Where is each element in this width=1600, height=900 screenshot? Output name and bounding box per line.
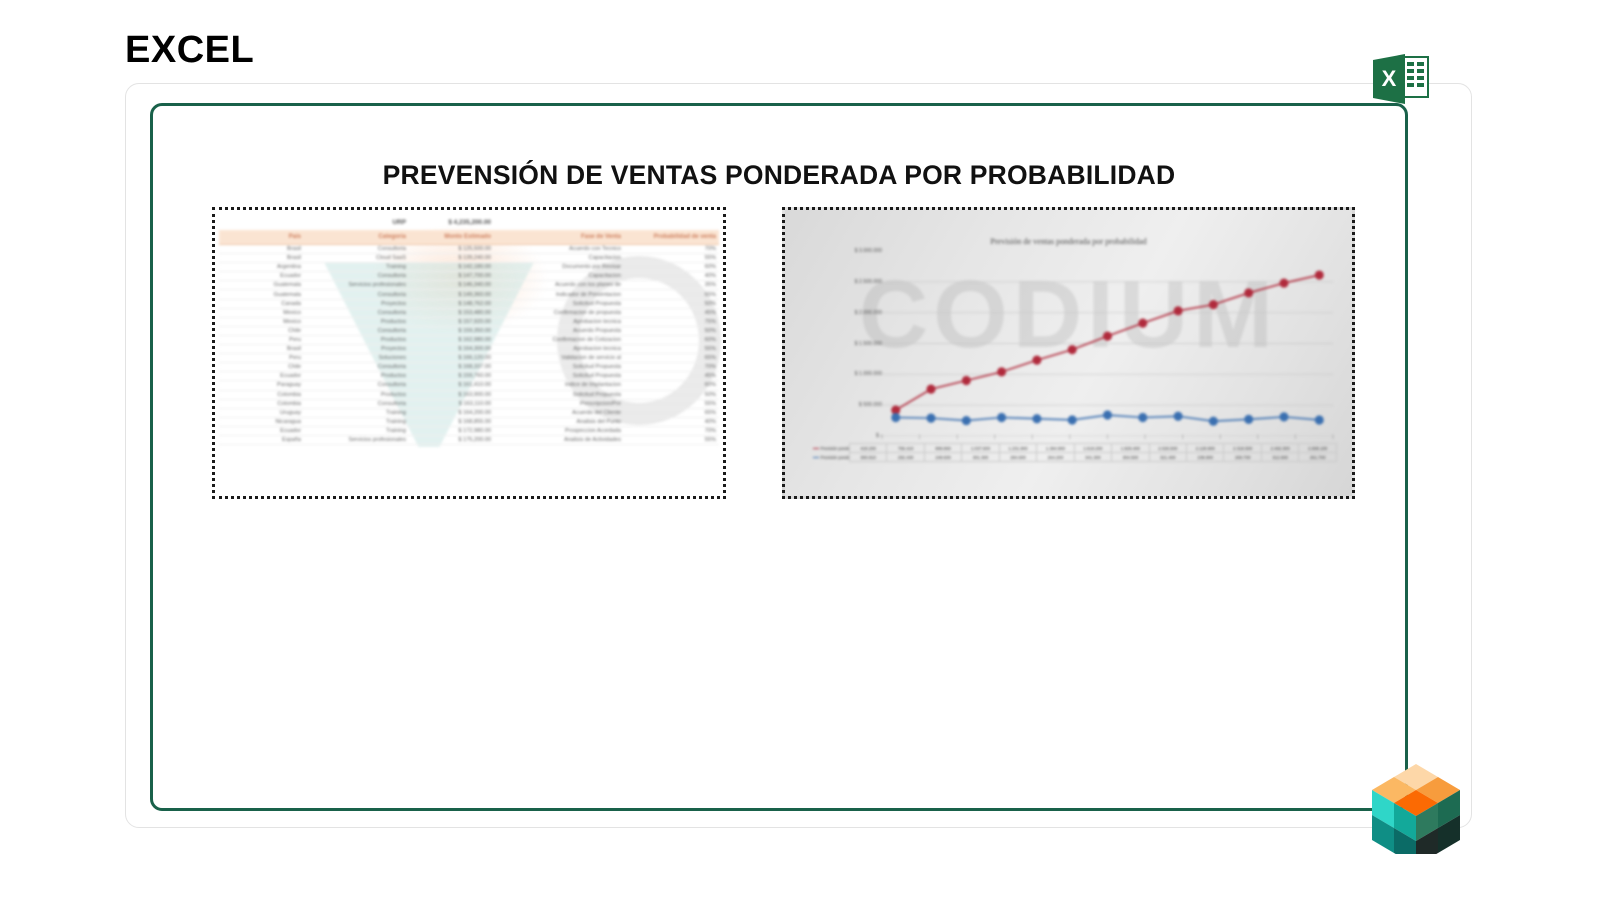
table-cell: 65% — [624, 290, 719, 299]
table-cell: $ 149,360.00 — [409, 290, 494, 299]
table-cell: Ecuador — [219, 272, 304, 281]
table-cell: Analisis de Actividades — [494, 435, 624, 444]
table-cell: Colombia — [219, 390, 304, 399]
chart-data-point — [1244, 415, 1253, 424]
table-cell: 35% — [624, 281, 719, 290]
table-cell: 50% — [624, 390, 719, 399]
chart-series-line — [896, 275, 1320, 410]
sales-table: URP$ 4,235,200.00PaisCategoriaMonto Esti… — [219, 214, 719, 445]
chart-data-point — [1032, 414, 1041, 423]
table-cell: Aprobacion tecnica — [494, 345, 624, 354]
table-cell: 60% — [624, 381, 719, 390]
table-cell: Uruguay — [219, 408, 304, 417]
table-row[interactable]: ParaguayConsultoria$ 161,410.00Indice de… — [219, 381, 719, 390]
table-cell: Servicios profesionales — [304, 435, 409, 444]
table-cell: Validacion de servicio al — [494, 354, 624, 363]
table-cell: Capacitacion — [494, 272, 624, 281]
table-cell: $ 157,920.00 — [409, 317, 494, 326]
table-cell: $ 159,350.00 — [409, 326, 494, 335]
table-cell: Productos — [304, 317, 409, 326]
y-axis-tick-label: $ 1.000.000 — [855, 371, 882, 377]
chart-table-cell: 1.829.400 — [1112, 444, 1149, 453]
y-axis-tick-label: $ 1.500.000 — [855, 341, 882, 347]
table-cell: Acuerdo con los planes de — [494, 281, 624, 290]
table-cell: 55% — [624, 345, 719, 354]
table-cell: Peru — [219, 354, 304, 363]
table-cell: España — [219, 435, 304, 444]
table-row[interactable]: MexicoProductos$ 157,920.00Aprobacion te… — [219, 317, 719, 326]
table-cell: Mexico — [219, 317, 304, 326]
table-cell: Solicitud Propuesta — [494, 372, 624, 381]
table-row[interactable]: BrasilConsultoria$ 125,500.00Acuerdo con… — [219, 245, 719, 254]
chart-data-point — [1209, 300, 1218, 309]
table-cell: Consultoria — [304, 399, 409, 408]
column-header[interactable]: Pais — [219, 230, 304, 245]
chart-table-cell: 2.608.100 — [1299, 444, 1337, 453]
table-row[interactable]: PeruProductos$ 162,980.00Confirmacion de… — [219, 335, 719, 344]
table-cell: Chile — [219, 326, 304, 335]
table-cell: Solicitud Propuesta — [494, 363, 624, 372]
table-cell: $ 163,900.00 — [409, 390, 494, 399]
table-header-row: PaisCategoriaMonto EstimadoFase de Venta… — [219, 230, 719, 245]
chart-table-cell: 756.410 — [887, 444, 924, 453]
column-header[interactable]: Monto Estimado — [409, 230, 494, 245]
table-cell: Consultoria — [304, 290, 409, 299]
chart-table-cell: 2.026.500 — [1149, 444, 1186, 453]
chart-data-point — [927, 385, 936, 394]
table-cell: 60% — [624, 335, 719, 344]
table-cell: Consultoria — [304, 326, 409, 335]
chart-data-point — [1103, 332, 1112, 341]
table-cell: Guatemala — [219, 290, 304, 299]
table-cell: $ 142,180.00 — [409, 263, 494, 272]
table-cell: $ 168,337.00 — [409, 363, 494, 372]
table-cell: Consultoria — [304, 272, 409, 281]
table-cell: $ 153,480.00 — [409, 308, 494, 317]
table-cell: 65% — [624, 408, 719, 417]
chart-table-cell: 2.318.500 — [1224, 444, 1261, 453]
column-header[interactable]: Fase de Venta — [494, 230, 624, 245]
table-row[interactable]: EspañaServicios profesionales$ 175,200.0… — [219, 435, 719, 444]
table-cell: 65% — [624, 354, 719, 363]
x-axis-tick: | — [1182, 434, 1183, 439]
chart-data-point — [927, 414, 936, 423]
table-cell: Ecuador — [219, 426, 304, 435]
chart-table-cell: 301.300 — [962, 453, 999, 462]
table-row[interactable]: ColombiaConsultoria$ 163,110.00Prescripc… — [219, 399, 719, 408]
table-cell: Productos — [304, 390, 409, 399]
chart-table-cell: 2.128.900 — [1187, 444, 1224, 453]
table-cell: 55% — [624, 254, 719, 263]
table-row[interactable]: GuatemalaServicios profesionales$ 146,34… — [219, 281, 719, 290]
table-cell: Guatemala — [219, 281, 304, 290]
table-cell: 50% — [624, 326, 719, 335]
summary-label: URP — [304, 214, 409, 230]
chart-data-point — [962, 376, 971, 385]
chart-table-cell: 269.700 — [1224, 453, 1261, 462]
x-axis-tick: | — [1220, 434, 1221, 439]
chart-series-label: Previsión ponderada acumulada — [812, 444, 849, 453]
x-axis-tick: | — [994, 434, 995, 439]
table-cell: Training — [304, 408, 409, 417]
x-axis-tick: | — [1295, 434, 1296, 439]
excel-file-icon[interactable]: X — [1369, 52, 1431, 108]
chart-title: Previsión de ventas ponderada por probab… — [790, 237, 1347, 246]
table-cell — [219, 214, 304, 230]
table-row[interactable]: CanadaProyectos$ 148,762.00Solicitud Pro… — [219, 299, 719, 308]
table-row[interactable]: UruguayTraining$ 164,200.00Acuerdo del C… — [219, 408, 719, 417]
table-cell: Capacitacion — [494, 254, 624, 263]
x-axis-tick: | — [1069, 434, 1070, 439]
table-cell: Consultoria — [304, 363, 409, 372]
chart-table-cell: 2.492.300 — [1261, 444, 1298, 453]
chart-table-row: Previsión ponderada acumulada418.200756.… — [812, 444, 1337, 453]
table-cell: Solicitud Propuesta — [494, 390, 624, 399]
x-axis-tick: | — [957, 434, 958, 439]
table-cell: Acuerdo Propuesta — [494, 326, 624, 335]
table-cell: Argentina — [219, 263, 304, 272]
y-axis-tick-label: $ 3.000.000 — [855, 248, 882, 254]
table-cell: 50% — [624, 299, 719, 308]
chart-table-cell: 899.860 — [924, 444, 961, 453]
y-axis-tick-label: $ 2.500.000 — [855, 279, 882, 285]
table-cell: Chile — [219, 363, 304, 372]
table-cell: Proyectos — [304, 345, 409, 354]
chart-screenshot-panel[interactable]: CODIUM Previsión de ventas ponderada por… — [782, 207, 1355, 499]
table-cell — [624, 214, 719, 230]
chart-table-cell: 292.430 — [887, 453, 924, 462]
table-cell: 70% — [624, 363, 719, 372]
table-row[interactable]: MexicoConsultoria$ 153,480.00Confirmacio… — [219, 308, 719, 317]
table-cell: Confirmacion de propuesta — [494, 308, 624, 317]
chart-content: CODIUM Previsión de ventas ponderada por… — [790, 215, 1347, 491]
chart-data-point — [1032, 356, 1041, 365]
table-cell: $ 163,110.00 — [409, 399, 494, 408]
chart-table-cell: 248.600 — [924, 453, 961, 462]
table-cell: $ 168,855.00 — [409, 417, 494, 426]
x-axis-tick: | — [1257, 434, 1258, 439]
chart-x-axis-ticks: ||||||||||||| — [882, 434, 1333, 442]
x-axis-tick: | — [1032, 434, 1033, 439]
chart-table-cell: 238.900 — [1187, 453, 1224, 462]
table-cell: Training — [304, 417, 409, 426]
column-header[interactable]: Probabilidad de venta — [624, 230, 719, 245]
chart-table-cell: 284.600 — [999, 453, 1036, 462]
table-cell: Mexico — [219, 308, 304, 317]
cube-logo-svg — [1370, 758, 1462, 854]
table-cell: Nicaragua — [219, 417, 304, 426]
chart-table-cell: 312.600 — [1261, 453, 1298, 462]
table-cell: 55% — [624, 435, 719, 444]
chart-table-cell: 1.037.600 — [962, 444, 999, 453]
chart-data-point — [1068, 345, 1077, 354]
table-cell: Prescripcion/Pre — [494, 399, 624, 408]
table-cell: Ecuador — [219, 372, 304, 381]
x-axis-tick: | — [1107, 434, 1108, 439]
table-cell: Training — [304, 263, 409, 272]
spreadsheet-content: URP$ 4,235,200.00PaisCategoriaMonto Esti… — [219, 214, 719, 492]
table-cell: Proyectos — [304, 299, 409, 308]
table-cell: Analisis del Punto — [494, 417, 624, 426]
table-cell: Productos — [304, 372, 409, 381]
table-cell: Brasil — [219, 254, 304, 263]
chart-data-point — [1174, 306, 1183, 315]
table-row[interactable]: EcuadorConsultoria$ 147,700.00Capacitaci… — [219, 272, 719, 281]
table-row[interactable]: ChileConsultoria$ 159,350.00Acuerdo Prop… — [219, 326, 719, 335]
table-row[interactable]: ColombiaProductos$ 163,900.00Solicitud P… — [219, 390, 719, 399]
isometric-cube-logo — [1370, 758, 1462, 854]
table-cell: Consultoria — [304, 381, 409, 390]
table-cell: $ 164,300.00 — [409, 345, 494, 354]
table-cell: Cloud SaaS — [304, 254, 409, 263]
table-cell: Confirmacion de Cotizacion — [494, 335, 624, 344]
chart-data-point — [1244, 288, 1253, 297]
table-row[interactable]: BrasilCloud SaaS$ 139,240.00Capacitacion… — [219, 254, 719, 263]
table-row[interactable]: EcuadorTraining$ 172,980.00Prospeccion A… — [219, 426, 719, 435]
table-cell: $ 162,980.00 — [409, 335, 494, 344]
excel-icon-svg: X — [1369, 52, 1431, 108]
table-cell: 60% — [624, 263, 719, 272]
table-cell: 40% — [624, 417, 719, 426]
x-axis-tick: | — [1332, 434, 1333, 439]
chart-data-point — [1279, 412, 1288, 421]
chart-data-point — [1315, 415, 1324, 424]
table-cell: Acuerdo del Cliente — [494, 408, 624, 417]
chart-y-axis: $ 3.000.000$ 2.500.000$ 2.000.000$ 1.500… — [812, 251, 884, 436]
table-cell: $ 139,240.00 — [409, 254, 494, 263]
table-row[interactable]: GuatemalaConsultoria$ 149,360.00Indicado… — [219, 290, 719, 299]
table-row[interactable]: ChileConsultoria$ 168,337.00Solicitud Pr… — [219, 363, 719, 372]
table-cell: Brasil — [219, 245, 304, 254]
table-summary-row: URP$ 4,235,200.00 — [219, 214, 719, 230]
table-cell: Aprobacion tecnica — [494, 317, 624, 326]
chart-data-point — [997, 367, 1006, 376]
table-cell: $ 147,700.00 — [409, 272, 494, 281]
y-axis-tick-label: $ 500.000 — [859, 402, 882, 408]
table-cell: $ 148,762.00 — [409, 299, 494, 308]
chart-table-cell: 264.200 — [1037, 453, 1074, 462]
table-cell: 75% — [624, 317, 719, 326]
table-cell: 40% — [624, 272, 719, 281]
chart-data-point — [1068, 415, 1077, 424]
table-cell: Brasil — [219, 345, 304, 354]
table-cell: $ 166,120.00 — [409, 354, 494, 363]
table-cell: $ 175,200.00 — [409, 435, 494, 444]
table-cell: Indice de Implantacion — [494, 381, 624, 390]
table-cell: Productos — [304, 335, 409, 344]
table-cell: Paraguay — [219, 381, 304, 390]
table-cell: Documento por Revisar — [494, 263, 624, 272]
table-cell: Peru — [219, 335, 304, 344]
table-cell: $ 164,200.00 — [409, 408, 494, 417]
chart-data-point — [1174, 412, 1183, 421]
chart-plot-area — [882, 251, 1333, 436]
table-cell: 45% — [624, 308, 719, 317]
y-axis-tick-label: $ 2.000.000 — [855, 310, 882, 316]
chart-table-cell: 304.500 — [1112, 453, 1149, 462]
table-cell: Soluciones — [304, 354, 409, 363]
summary-value: $ 4,235,200.00 — [409, 214, 494, 230]
chart-data-point — [1138, 413, 1147, 422]
chart-table-cell: 300.810 — [849, 453, 886, 462]
table-cell: Consultoria — [304, 245, 409, 254]
page-title: EXCEL — [125, 31, 254, 69]
chart-table-cell: 1.231.900 — [999, 444, 1036, 453]
chart-data-table: Previsión ponderada acumulada418.200756.… — [812, 443, 1337, 483]
chart-data-point — [1209, 417, 1218, 426]
chart-data-point — [962, 416, 971, 425]
table-cell: 45% — [624, 372, 719, 381]
chart-data-point — [997, 413, 1006, 422]
table-cell: Consultoria — [304, 308, 409, 317]
table-cell: 70% — [624, 245, 719, 254]
table-row[interactable]: PeruSoluciones$ 166,120.00Validacion de … — [219, 354, 719, 363]
table-cell: Prospeccion Acordada — [494, 426, 624, 435]
excel-icon-letter: X — [1382, 66, 1397, 91]
x-axis-tick: | — [881, 434, 882, 439]
table-cell: $ 125,500.00 — [409, 245, 494, 254]
column-header[interactable]: Categoria — [304, 230, 409, 245]
table-row[interactable]: BrasilProyectos$ 164,300.00Aprobacion te… — [219, 345, 719, 354]
table-cell: Servicios profesionales — [304, 281, 409, 290]
table-cell: Training — [304, 426, 409, 435]
chart-table-row: Previsión ponderada mensual300.810292.43… — [812, 453, 1337, 462]
table-cell: 70% — [624, 426, 719, 435]
chart-table-cell: 261.700 — [1299, 453, 1337, 462]
table-cell: 55% — [624, 399, 719, 408]
chart-data-point — [1315, 270, 1324, 279]
table-row[interactable]: NicaraguaTraining$ 168,855.00Analisis de… — [219, 417, 719, 426]
chart-data-point — [1138, 319, 1147, 328]
x-axis-tick: | — [919, 434, 920, 439]
chart-table-cell: 1.394.800 — [1037, 444, 1074, 453]
table-cell: Indicador de Presentacion — [494, 290, 624, 299]
x-axis-tick: | — [1145, 434, 1146, 439]
chart-data-point — [891, 413, 900, 422]
table-cell: $ 146,340.00 — [409, 281, 494, 290]
chart-table-cell: 341.300 — [1074, 453, 1111, 462]
table-cell: $ 172,980.00 — [409, 426, 494, 435]
table-row[interactable]: ArgentinaTraining$ 142,180.00Documento p… — [219, 263, 719, 272]
chart-table-cell: 321.400 — [1149, 453, 1186, 462]
table-cell: Canada — [219, 299, 304, 308]
spreadsheet-screenshot-panel[interactable]: URP$ 4,235,200.00PaisCategoriaMonto Esti… — [212, 207, 726, 499]
table-cell: $ 161,410.00 — [409, 381, 494, 390]
chart-svg — [882, 251, 1333, 436]
table-row[interactable]: EcuadorProductos$ 159,760.00Solicitud Pr… — [219, 372, 719, 381]
section-heading: PREVENSIÓN DE VENTAS PONDERADA POR PROBA… — [150, 160, 1408, 191]
chart-table-cell: 418.200 — [849, 444, 886, 453]
chart-data-point — [1103, 410, 1112, 419]
table-cell — [494, 214, 624, 230]
table-cell: Solicitud Propuesta — [494, 299, 624, 308]
chart-data-point — [1279, 278, 1288, 287]
table-cell: Acuerdo con Tecnico — [494, 245, 624, 254]
chart-table-cell: 1.618.200 — [1074, 444, 1111, 453]
chart-series-label: Previsión ponderada mensual — [812, 453, 849, 462]
table-cell: $ 159,760.00 — [409, 372, 494, 381]
table-cell: Colombia — [219, 399, 304, 408]
